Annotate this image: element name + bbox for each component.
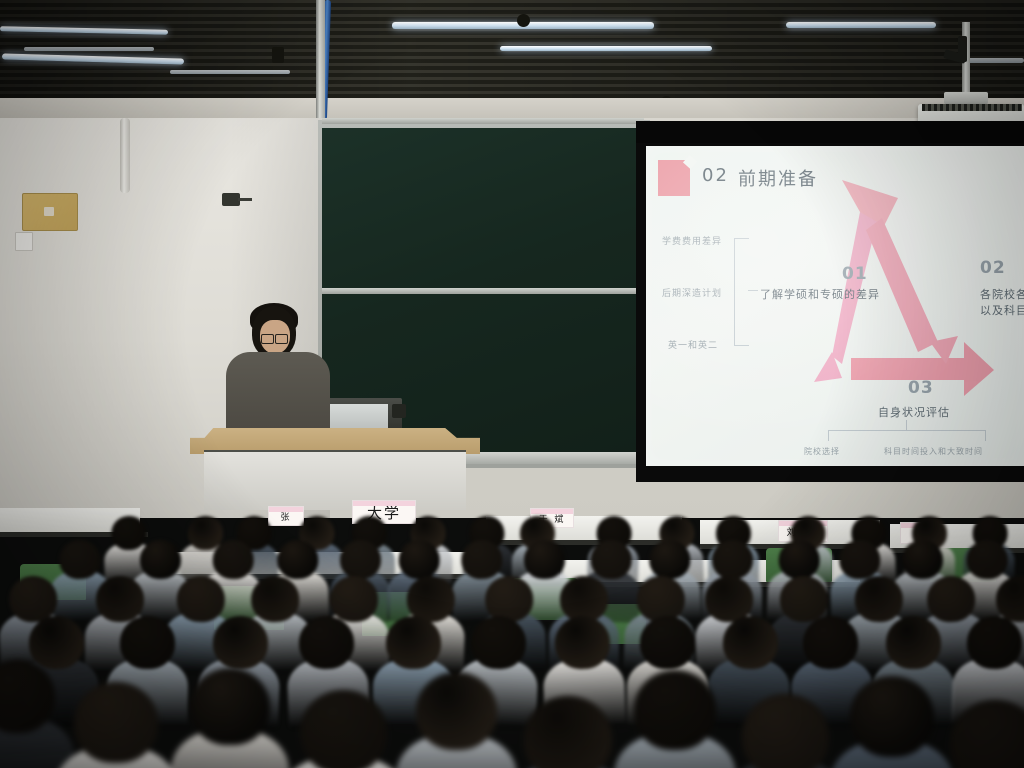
audience-member-head: [640, 616, 695, 669]
triangle-arrow-graphic: [646, 146, 1024, 466]
light-switch-plate[interactable]: [15, 232, 33, 251]
projector-vent: [922, 104, 1022, 111]
ceiling-light-tube: [170, 70, 290, 74]
slide-leaf-01-c: 英一和英二: [668, 338, 718, 351]
audience-member: [634, 670, 716, 768]
audience-member-head: [59, 539, 101, 580]
slide-branch-bracket-03: [828, 430, 986, 441]
audience-member-head: [966, 615, 1023, 670]
slide-leaf-03-a: 院校选择: [804, 446, 840, 457]
placard-top-stripe: [531, 509, 573, 514]
audience-member: [850, 676, 934, 768]
glasses-icon: [275, 334, 288, 344]
audience-member-head: [966, 539, 1008, 580]
projection-screen-top-bar: [636, 121, 1024, 143]
audience-member-head: [250, 575, 299, 623]
desk-row: [486, 516, 682, 542]
audience-member: [950, 700, 1024, 768]
audience-member-head: [850, 676, 934, 757]
audience-member: [0, 660, 55, 768]
audience-member-head: [778, 539, 820, 580]
placard-top-stripe: [353, 501, 415, 506]
audience-member-head: [340, 540, 381, 579]
slide-leaf-01-a: 学费费用差异: [662, 234, 722, 247]
slide-leaf-03-b: 科目时间投入和大致时间: [884, 446, 983, 457]
audience-member-head: [780, 576, 828, 622]
audience-member-head: [712, 540, 753, 579]
audience-member: [416, 672, 497, 768]
audience-member-head: [634, 670, 716, 750]
audience-member: [140, 540, 181, 621]
audience-member-head: [802, 615, 859, 670]
placard-top-stripe: [269, 507, 303, 512]
audience-member-head: [742, 694, 829, 768]
audience-member-head: [950, 700, 1024, 768]
lectern-body: [204, 452, 466, 510]
audience-member-head: [470, 615, 527, 670]
slide-branch-connector-03: [906, 420, 907, 430]
audience-member-head: [398, 539, 440, 580]
audience-member-head: [120, 616, 175, 669]
audience-member-head: [74, 682, 158, 763]
audience-member-head: [212, 615, 269, 670]
slide-number-02: 02: [980, 258, 1006, 278]
audience-member-head: [902, 540, 943, 579]
presentation-slide: 02 前期准备 学费费用差异 后期深造计划 英一和英二 01 了解学硕和专硕的差…: [646, 146, 1024, 466]
lecture-hall-photo: EPSON 02 前期准备 学费费用差异 后期深造计划 英一和英二 01 了解学…: [0, 0, 1024, 768]
ceiling-light-tube: [500, 46, 712, 51]
audience-member-head: [416, 672, 497, 750]
presenter-body: [226, 352, 330, 438]
projector-bracket: [958, 36, 967, 62]
audience-member-head: [190, 668, 270, 745]
audience-member-head: [277, 539, 319, 580]
audience-member-head: [590, 539, 632, 580]
slide-branch-bracket-01: [734, 238, 749, 346]
ceiling-sensor: [517, 14, 530, 27]
lectern-monitor-knob[interactable]: [392, 404, 406, 418]
audience-member-head: [300, 690, 387, 768]
audience-member-head: [839, 539, 881, 580]
audience-member: [300, 690, 387, 768]
slide-heading-02-line1: 各院校各: [980, 286, 1024, 302]
audience-member-head: [524, 696, 612, 768]
audience-member-head: [386, 616, 441, 669]
audience-member-head: [461, 539, 503, 580]
audience-member-head: [524, 540, 565, 579]
audience-member: [74, 682, 158, 768]
wall-pipe: [120, 118, 130, 193]
blackboard-rail: [322, 288, 644, 294]
glasses-icon: [261, 334, 274, 344]
ceiling-light-tube: [962, 58, 1024, 63]
audience-member-head: [886, 616, 941, 669]
slide-heading-01: 了解学硕和专硕的差异: [760, 286, 880, 302]
slide-number-01: 01: [842, 264, 868, 284]
audience-member: [524, 696, 612, 768]
ceiling-light-tube: [24, 47, 154, 51]
slide-heading-02-line2: 以及科目: [980, 302, 1024, 318]
audience-member: [742, 694, 829, 768]
audience-member-head: [298, 615, 355, 670]
slide-number-03: 03: [908, 378, 934, 398]
audience-member-head: [554, 615, 611, 670]
slide-leaf-01-b: 后期深造计划: [662, 286, 722, 299]
audience-member-head: [212, 539, 254, 580]
slide-branch-connector-01: [748, 290, 758, 291]
ceiling-sensor: [272, 47, 284, 63]
electrical-panel: [22, 193, 78, 231]
blackboard-rail: [322, 118, 644, 124]
slide-heading-03: 自身状况评估: [878, 404, 950, 420]
audience-member: [190, 668, 270, 768]
audience-member-head: [140, 540, 181, 579]
projector-mount-plate: [944, 92, 988, 104]
audience-member-head: [649, 539, 691, 580]
ceiling-light-tube: [786, 22, 936, 28]
audience-member-head: [722, 615, 779, 670]
wall-camera: [222, 193, 240, 206]
